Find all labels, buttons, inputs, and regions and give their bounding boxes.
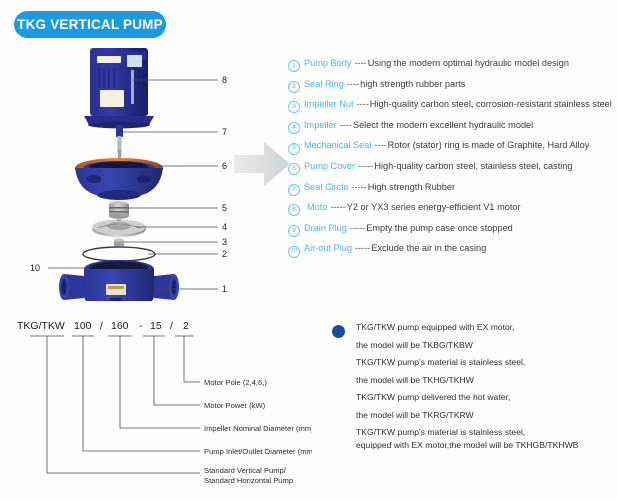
legend-number-icon: 1 [288,60,300,72]
legend-part-desc: Rotor (stator) ring is made of Graphite,… [388,140,590,151]
legend-number-icon: 10 [288,246,300,258]
legend-part-desc: Y2 or YX3 series energy-efficient V1 mot… [347,202,521,213]
legend-number-icon: 7 [288,184,300,196]
page-title: TKG VERTICAL PUMP [17,17,163,32]
legend-part-desc: Exclude the air in the casing [371,243,486,254]
legend-part-desc: High-quality carbon steel, corrosion-res… [370,99,612,110]
legend-item: 10 Air-out Plug ----- Exclude the air in… [288,243,613,257]
part-impeller-nut [114,238,124,246]
bullet-dot-icon [332,325,345,338]
right-arrow-icon [232,138,294,190]
page-title-banner: TKG VERTICAL PUMP [14,11,166,38]
legend-part-name: Drain Plug [304,223,347,234]
legend-item: 5 Mechanical Seal ---- Rotor (stator) ri… [288,140,613,153]
legend-part-name: Mechanical Seal [304,140,371,151]
part-shaft [116,125,123,162]
legend-part-name: Pump Body [304,58,352,69]
part-impeller [92,218,146,237]
callout-5: 5 [222,203,227,213]
code-label-impeller-diameter: Impeller Nominal Diameter (mm) [204,424,312,433]
callout-3: 3 [222,237,227,247]
code-segment-power: 15 [150,320,162,332]
legend-dash: ----- [351,182,366,193]
legend-item: 1 Pump Body ---- Using the modern optima… [288,58,613,71]
legend-part-desc: Using the modern optimal hydraulic model… [368,58,569,69]
legend-item: 8 Moto ----- Y2 or YX3 series energy-eff… [288,202,613,215]
callout-7: 7 [222,127,227,137]
legend-item: 6 Pump Cover ----- High-quality carbon s… [288,161,613,174]
part-seal-ring [83,247,155,261]
legend-item: 9 Drain Plug ----- Empty the pump case o… [288,223,613,236]
legend-number-icon: 5 [288,143,300,155]
part-motor [84,48,154,128]
callout-2: 2 [222,249,227,259]
variant-line: TKG/TKW pump delivered the hot water, [356,392,612,402]
code-segment-slash2: / [170,320,173,332]
legend-dash: ---- [340,120,352,131]
code-label-pump-type-2: Standard Horizontal Pump [204,476,293,485]
legend-dash: ----- [358,161,373,172]
legend-part-desc: high strength rubber parts [360,79,465,90]
legend-item: 3 Impeller Nut ---- High-quality carbon … [288,99,613,112]
model-code-diagram: TKG/TKW 100 / 160 - 15 / 2 [12,315,312,495]
variant-line: TKG/TKW pump's material is stainless ste… [356,357,612,367]
legend-dash: ---- [357,99,369,110]
legend-dash: ----- [350,223,365,234]
legend-item: 4 Impeller ---- Select the modern excell… [288,120,613,133]
legend-dash: ---- [355,58,367,69]
code-label-inlet-diameter: Pump Inlet/Outlet Diameter (mm) [204,447,312,456]
code-label-motor-pole: Motor Pole (2,4,6,) [204,378,267,387]
callout-10: 10 [30,263,40,273]
pump-product-sheet: TKG VERTICAL PUMP [0,0,617,500]
callout-6: 6 [222,161,227,171]
code-label-pump-type-1: Standard Vertical Pump/ [204,466,287,475]
exploded-pump-diagram: 8 7 6 5 4 3 2 1 10 9 [18,46,248,301]
variant-line: the model will be TKRG/TKRW [356,410,612,420]
legend-part-name: Air-out Plug [304,243,352,254]
variant-line: equipped with EX motor,the model will be… [356,440,612,450]
part-pump-cover [75,158,163,200]
legend-dash: ---- [374,140,386,151]
legend-number-icon: 6 [288,163,300,175]
part-pump-body [59,260,179,301]
legend-number-icon: 2 [288,81,300,93]
legend-dash: ---- [347,79,359,90]
legend-part-name: Pump Cover [304,161,355,172]
variant-line: the model will be TKBG/TKBW [356,340,612,350]
legend-part-name: Seal Ring [304,79,344,90]
legend-part-name: Impeller Nut [304,99,354,110]
callout-4: 4 [222,222,227,232]
legend-number-icon: 9 [288,225,300,237]
code-segment-slash1: / [100,320,103,332]
legend-number-icon: 3 [288,101,300,113]
legend-number-icon: 8 [288,204,300,216]
legend-dash: ----- [330,202,345,213]
legend-part-desc: Select the modern excellent hydraulic mo… [353,120,533,131]
legend-dash: ----- [355,243,370,254]
legend-part-name: Moto [307,202,327,213]
code-segment-pole: 2 [183,320,189,332]
variant-line: TKG/TKW pump equipped with EX motor, [356,322,612,332]
callout-8: 8 [222,75,227,85]
code-segment-impeller: 160 [111,320,129,332]
legend-part-name: Seal Circle [304,182,348,193]
variant-line: TKG/TKW pump's material is stainless ste… [356,427,612,437]
code-segment-series: TKG/TKW [17,320,65,332]
legend-part-desc: Empty the pump case once stopped [366,223,513,234]
legend-part-desc: High strength Rubber [368,182,455,193]
legend-part-desc: High-quality carbon steel, stainless ste… [374,161,572,172]
part-mechanical-seal [109,201,129,219]
legend-number-icon: 4 [288,122,300,134]
code-label-motor-power: Motor Power (kW) [204,401,266,410]
code-segment-dash: - [139,320,143,332]
parts-legend: 1 Pump Body ---- Using the modern optima… [288,58,613,264]
code-segment-inlet: 100 [74,320,92,332]
callout-1: 1 [222,284,227,294]
variant-line: the model will be TKHG/TKHW [356,375,612,385]
legend-part-name: Impeller [304,120,337,131]
legend-item: 7 Seal Circle ----- High strength Rubber [288,182,613,195]
model-variant-notes: TKG/TKW pump equipped with EX motor, the… [332,322,612,457]
legend-item: 2 Seal Ring ---- high strength rubber pa… [288,79,613,92]
